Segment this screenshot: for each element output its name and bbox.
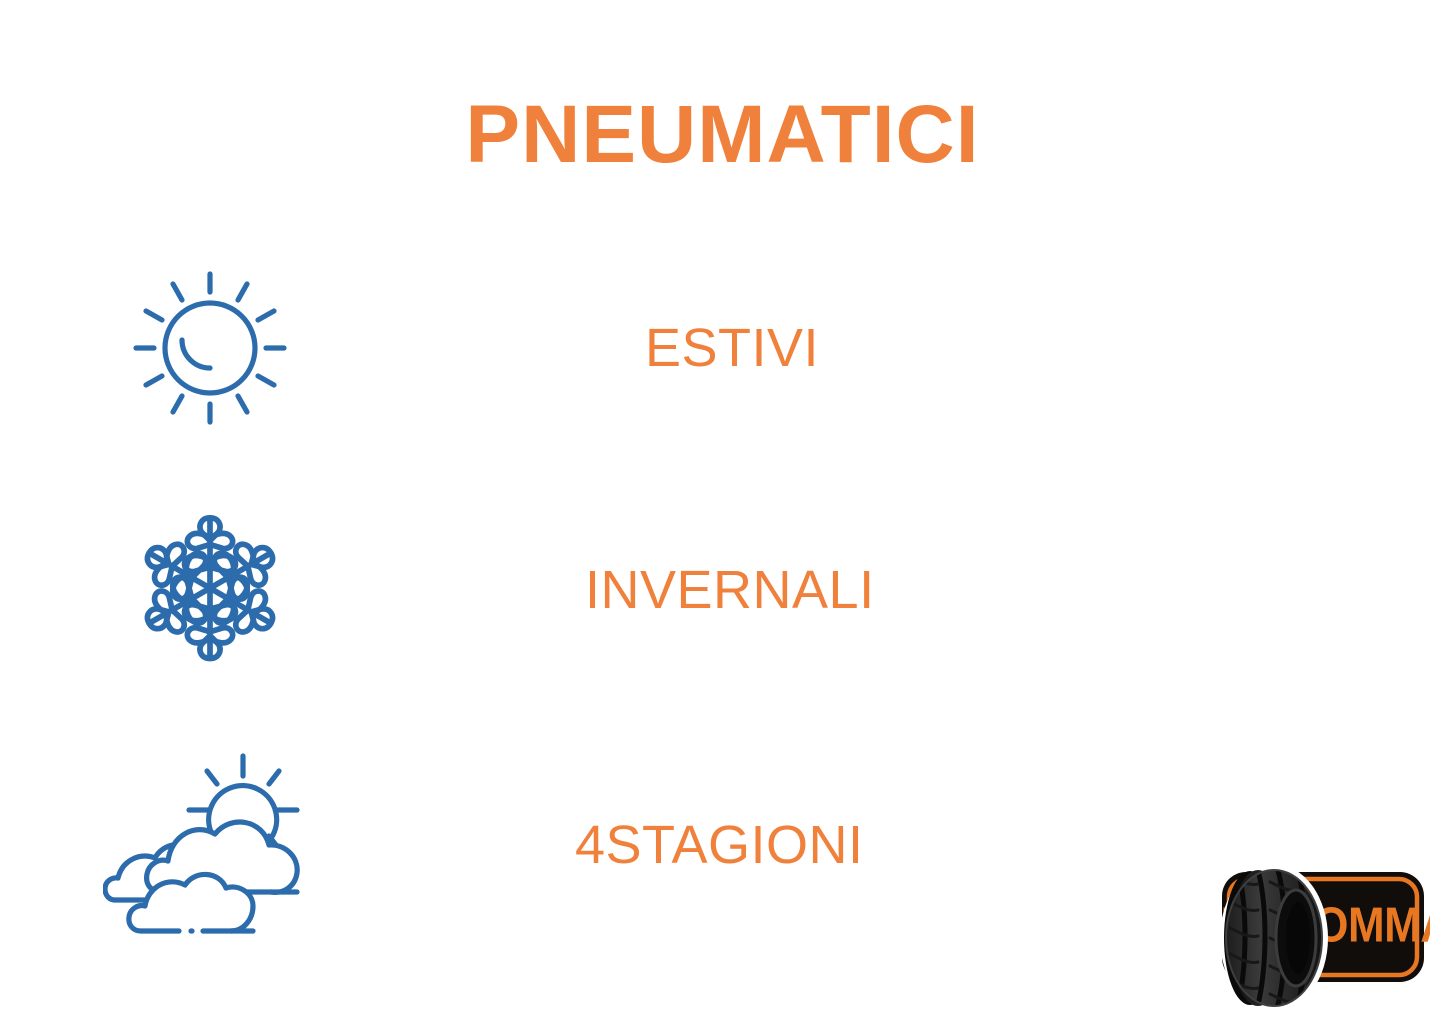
brand-logo[interactable]: REGOMMA — [1196, 862, 1430, 1012]
sun-icon — [0, 248, 420, 448]
season-label-4stagioni: 4STAGIONI — [575, 814, 864, 876]
season-label-cell-invernali: INVERNALI — [420, 490, 1445, 690]
season-label-invernali: INVERNALI — [585, 559, 875, 621]
sun-behind-clouds-icon — [0, 745, 420, 945]
snowflake-icon — [0, 490, 420, 690]
season-label-estivi: ESTIVI — [645, 317, 819, 379]
page-title: PNEUMATICI — [0, 92, 1445, 178]
tire-icon — [1220, 864, 1328, 1012]
season-label-cell-estivi: ESTIVI — [420, 248, 1445, 448]
season-row-estivi: ESTIVI — [0, 248, 1445, 448]
season-row-invernali: INVERNALI — [0, 490, 1445, 690]
poster-canvas: PNEUMATICI — [0, 0, 1445, 1022]
